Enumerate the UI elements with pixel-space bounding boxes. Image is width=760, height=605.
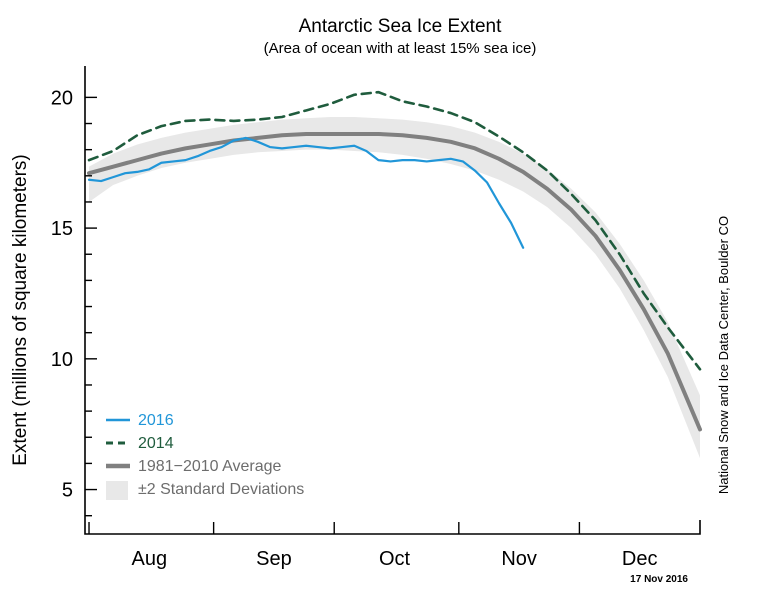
x-tick-label-aug: Aug (132, 548, 168, 570)
x-tick-label-oct: Oct (379, 548, 411, 570)
legend-label-2: 1981−2010 Average (138, 458, 282, 475)
antarctic-sea-ice-extent-chart: Antarctic Sea Ice Extent (Area of ocean … (0, 0, 760, 605)
date-stamp: 17 Nov 2016 (630, 574, 688, 585)
legend-label-3: ±2 Standard Deviations (138, 481, 304, 498)
y-tick-label: 10 (51, 349, 73, 371)
y-tick-label: 15 (51, 218, 73, 240)
legend-label-0: 2016 (138, 412, 174, 429)
chart-subtitle: (Area of ocean with at least 15% sea ice… (264, 40, 537, 57)
y-tick-label: 5 (62, 480, 73, 502)
x-tick-label-nov: Nov (501, 548, 537, 570)
y-axis-title: Extent (millions of square kilometers) (10, 154, 31, 466)
x-tick-label-sep: Sep (256, 548, 292, 570)
x-tick-label-dec: Dec (622, 548, 658, 570)
y-tick-label: 20 (51, 87, 73, 109)
chart-title: Antarctic Sea Ice Extent (299, 16, 502, 37)
chart-page: Antarctic Sea Ice Extent (Area of ocean … (0, 0, 760, 605)
legend-swatch-band (106, 481, 128, 500)
credit-text: National Snow and Ice Data Center, Bould… (716, 216, 731, 494)
legend-label-1: 2014 (138, 435, 174, 452)
